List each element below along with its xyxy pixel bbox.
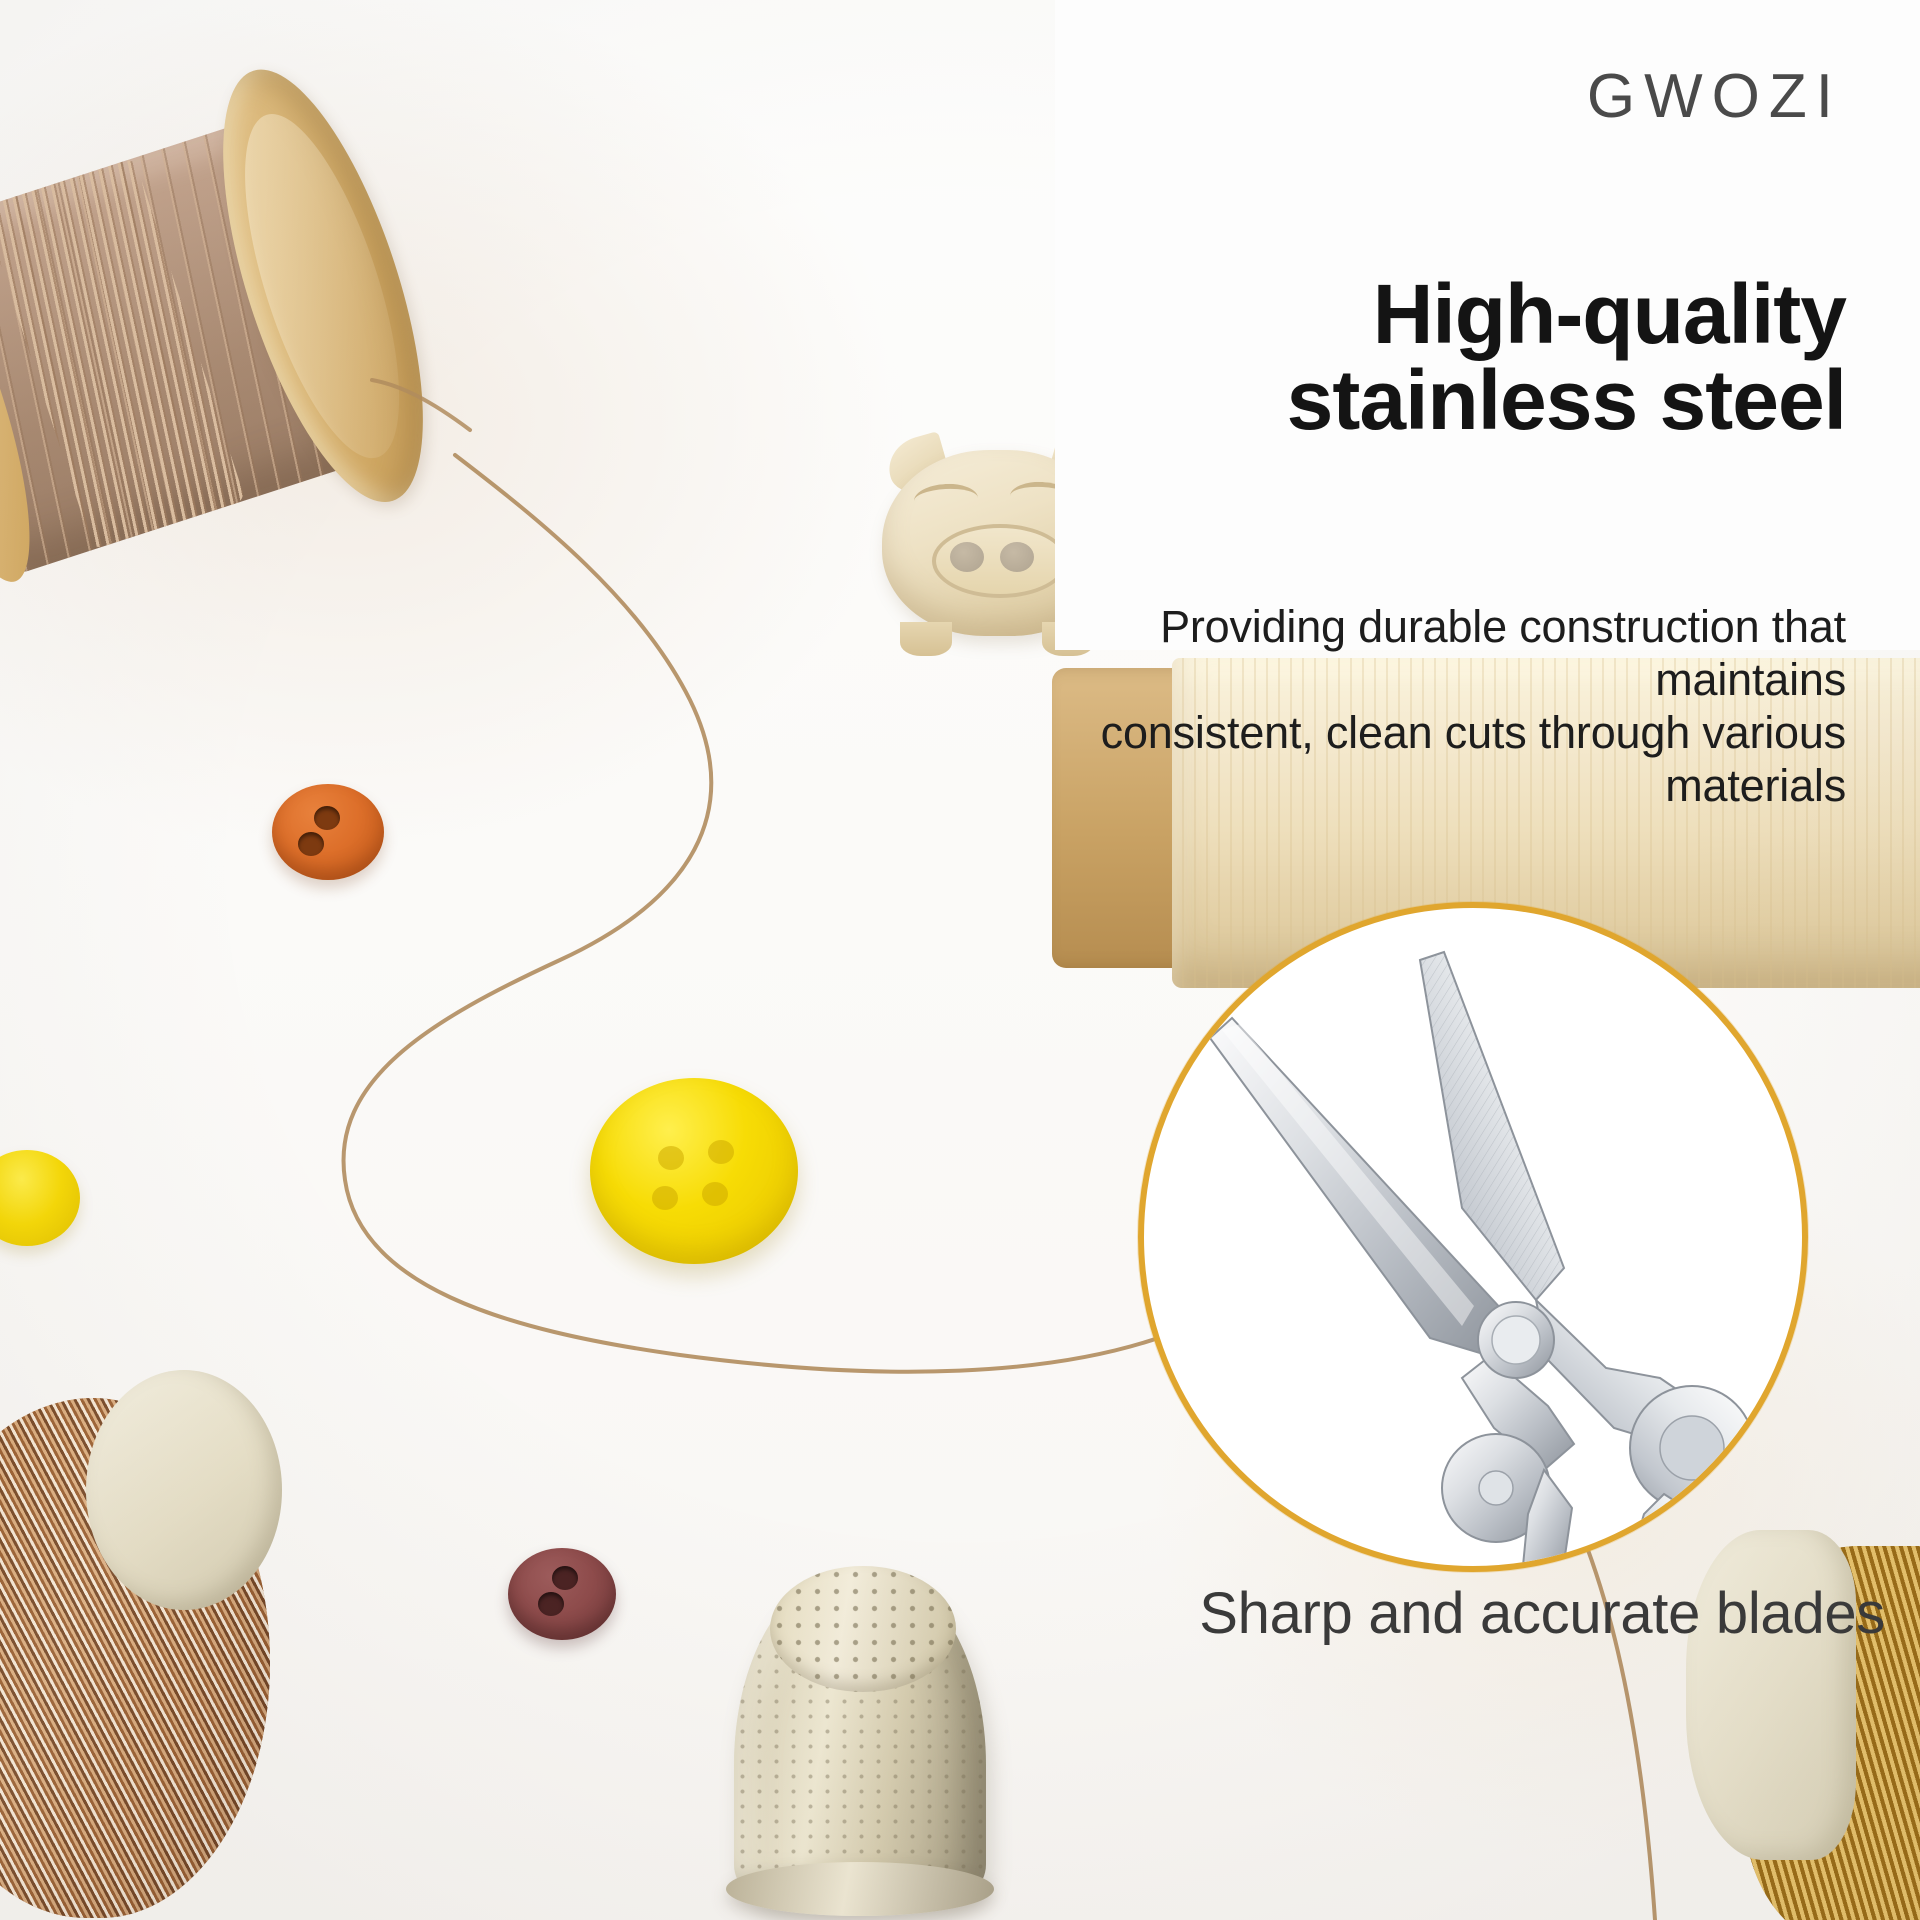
marketing-banner: GWOZI High-quality stainless steel Provi… (0, 0, 1920, 1920)
page-title: High-quality stainless steel (1056, 272, 1846, 443)
headline-line-2: stainless steel (1056, 358, 1846, 444)
scissors-handle-ring-right (1630, 1386, 1754, 1510)
brand-logo: GWOZI (1587, 66, 1842, 128)
scissors-icon (1144, 908, 1808, 1572)
inset-caption: Sharp and accurate blades (1055, 1580, 1885, 1647)
subtitle-line-2: consistent, clean cuts through various m… (966, 706, 1846, 812)
subtitle-line-1: Providing durable construction that main… (1160, 601, 1846, 705)
subtitle-text: Providing durable construction that main… (966, 600, 1846, 812)
scissors-handle-bar-right (1626, 1494, 1692, 1572)
scissors-detail-inset (1138, 902, 1808, 1572)
headline-line-1: High-quality (1373, 267, 1846, 361)
